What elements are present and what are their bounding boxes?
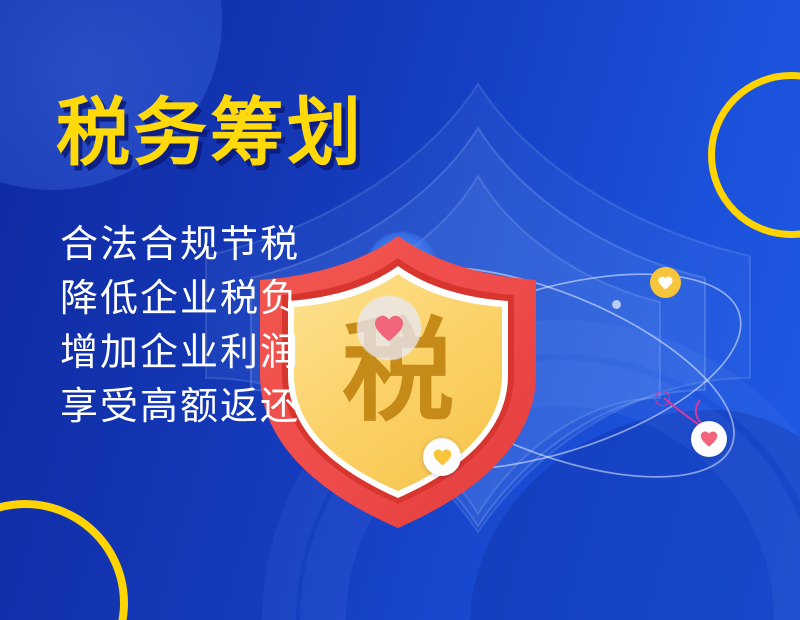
heart-icon bbox=[433, 449, 452, 466]
subtitle-line-1: 合法合规节税 bbox=[60, 218, 300, 272]
heart-badge-left bbox=[357, 296, 421, 360]
subtitle-line-3: 增加企业利润 bbox=[60, 326, 300, 380]
heart-icon bbox=[374, 315, 404, 342]
subtitle-line-2: 降低企业税负 bbox=[60, 272, 300, 326]
banner-title: 税务筹划 bbox=[56, 96, 364, 170]
heart-icon bbox=[658, 276, 673, 290]
subtitle-line-4: 享受高额返还 bbox=[60, 380, 300, 434]
tax-planning-banner: 税 税务筹划 合法合规节税 降低企业税负 增加企业利润 享受高额返还 bbox=[0, 0, 800, 620]
heart-badge-bottom-left bbox=[423, 438, 461, 476]
heart-badge-top-right bbox=[650, 267, 681, 298]
heart-icon bbox=[700, 431, 718, 447]
heart-badge-bottom-right bbox=[691, 421, 727, 457]
banner-subtitle-list: 合法合规节税 降低企业税负 增加企业利润 享受高额返还 bbox=[60, 218, 300, 434]
